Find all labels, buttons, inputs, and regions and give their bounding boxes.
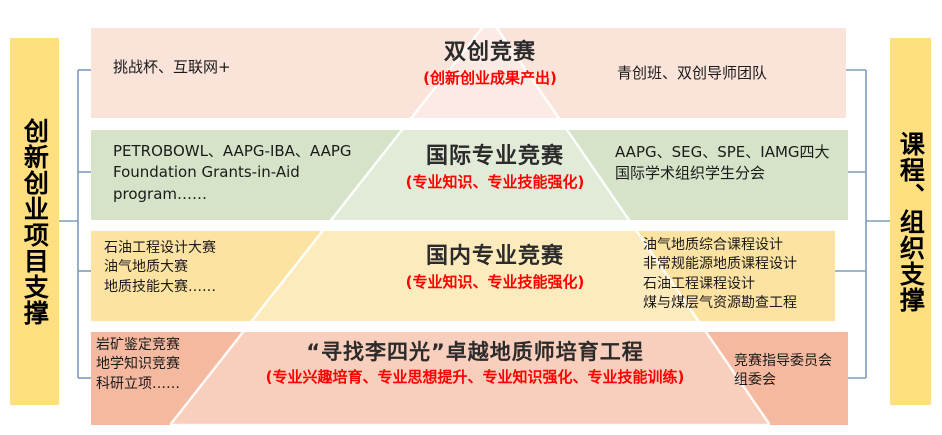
- tier-4-label: “寻找李四光”卓越地质师培育工程 (专业兴趣培育、专业思想提升、专业知识强化、专…: [215, 340, 735, 388]
- tier-1-title: 双创竞赛: [360, 40, 620, 66]
- row-3-right-note: 油气地质综合课程设计 非常规能源地质课程设计 石油工程课程设计 煤与煤层气资源勘…: [643, 236, 843, 313]
- tier-3-label: 国内专业竞赛 (专业知识、专业技能强化): [330, 244, 660, 293]
- row-1-right-note: 青创班、双创导师团队: [617, 63, 837, 84]
- tier-1-subtitle: (创新创业成果产出): [360, 69, 620, 89]
- tier-1-label: 双创竞赛 (创新创业成果产出): [360, 40, 620, 89]
- tier-3-subtitle: (专业知识、专业技能强化): [330, 273, 660, 293]
- left-pillar-label: 创新创业项目支撑: [22, 118, 48, 326]
- tier-4-subtitle: (专业兴趣培育、专业思想提升、专业知识强化、专业技能训练): [215, 368, 735, 388]
- row-1-left-note: 挑战杯、互联网+: [113, 57, 343, 78]
- left-pillar: 创新创业项目支撑: [10, 38, 59, 405]
- tier-4-title: “寻找李四光”卓越地质师培育工程: [215, 340, 735, 365]
- tier-2-subtitle: (专业知识、专业技能强化): [335, 173, 655, 193]
- row-3-left-note: 石油工程设计大赛 油气地质大赛 地质技能大赛……: [104, 239, 324, 297]
- diagram-canvas: 创新创业项目支撑 课程、组织支撑 挑战杯、互联网+ 青创班、双创导师团队 双创竞…: [0, 0, 942, 435]
- right-pillar-label: 课程、组织支撑: [898, 131, 924, 313]
- row-4-right-note: 竞赛指导委员会 组委会: [734, 352, 854, 391]
- right-pillar: 课程、组织支撑: [890, 38, 931, 405]
- tier-3-title: 国内专业竞赛: [330, 244, 660, 270]
- tier-2-label: 国际专业竞赛 (专业知识、专业技能强化): [335, 144, 655, 193]
- tier-2-title: 国际专业竞赛: [335, 144, 655, 170]
- row-2-left-note: PETROBOWL、AAPG-IBA、AAPG Foundation Grant…: [113, 141, 373, 205]
